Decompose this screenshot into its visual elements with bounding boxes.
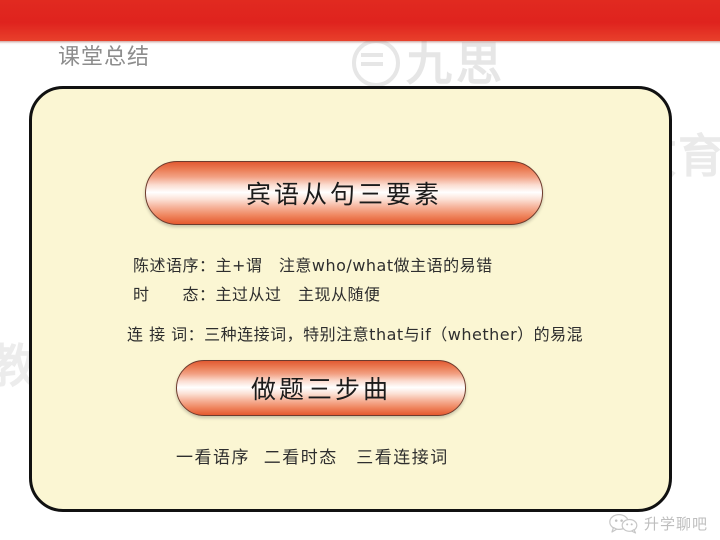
pill-topic[interactable]: 宾语从句三要素 bbox=[145, 161, 543, 225]
header-band bbox=[0, 0, 720, 41]
pill-steps[interactable]: 做题三步曲 bbox=[176, 360, 466, 416]
body-line-conjunction: 连 接 词：三种连接词，特别注意that与if（whether）的易混 bbox=[127, 321, 583, 345]
pill-topic-label: 宾语从句三要素 bbox=[246, 175, 442, 211]
wechat-label: 升学聊吧 bbox=[644, 513, 708, 534]
pill-steps-label: 做题三步曲 bbox=[251, 370, 391, 406]
content-panel: 宾语从句三要素 陈述语序：主+谓 注意who/what做主语的易错 时 态：主过… bbox=[29, 86, 672, 512]
watermark-seal-icon bbox=[352, 39, 400, 87]
header-shadow bbox=[0, 41, 720, 45]
body-line-tense: 时 态：主过从过 主现从随便 bbox=[133, 281, 381, 305]
wechat-icon bbox=[609, 513, 639, 534]
wechat-badge[interactable]: 升学聊吧 bbox=[609, 513, 708, 534]
body-line-summary: 一看语序 二看时态 三看连接词 bbox=[176, 443, 449, 468]
body-line-word-order: 陈述语序：主+谓 注意who/what做主语的易错 bbox=[133, 252, 493, 276]
watermark-top-text: 九思 bbox=[406, 37, 506, 91]
